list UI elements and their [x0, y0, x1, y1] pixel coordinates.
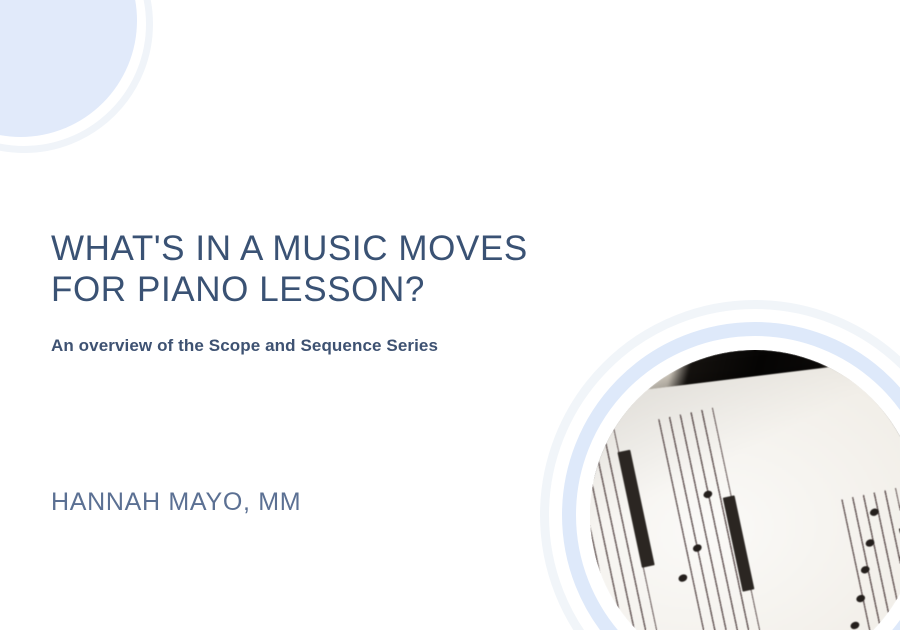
page-subtitle: An overview of the Scope and Sequence Se…	[51, 335, 611, 357]
sheet-music-paper	[590, 350, 900, 630]
title-text-block: What's in a Music Moves for Piano Lesson…	[51, 228, 611, 357]
title-slide: What's in a Music Moves for Piano Lesson…	[0, 0, 900, 630]
top-left-filled-circle	[0, 0, 137, 137]
author-name: Hannah Mayo, MM	[51, 486, 301, 518]
sheet-music-photo	[590, 350, 900, 630]
page-title: What's in a Music Moves for Piano Lesson…	[51, 228, 611, 310]
